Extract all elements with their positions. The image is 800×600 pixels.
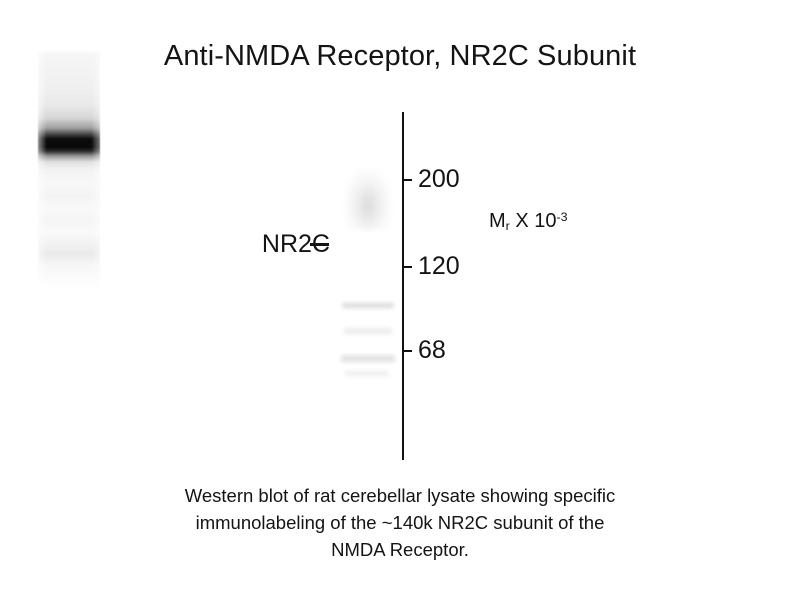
blot-image-panel: [300, 105, 620, 470]
blot-faint-band: [342, 303, 394, 308]
band-pointer-dash-icon: [310, 243, 329, 246]
western-blot-figure: Anti-NMDA Receptor, NR2C Subunit 200 120…: [0, 0, 800, 600]
figure-caption: Western blot of rat cerebellar lysate sh…: [110, 482, 690, 564]
molecular-weight-axis-label: Mr X 10-3: [489, 210, 568, 233]
mr-subscript: r: [506, 219, 510, 233]
mr-prefix: M: [489, 210, 506, 232]
blot-faint-band: [344, 328, 392, 334]
molecular-weight-axis-line: [402, 112, 404, 460]
blot-faint-band: [345, 371, 389, 376]
page-title: Anti-NMDA Receptor, NR2C Subunit: [0, 40, 800, 73]
caption-line: NMDA Receptor.: [110, 536, 690, 563]
mr-superscript: -3: [557, 210, 568, 224]
mw-tick-icon: [402, 350, 412, 352]
caption-line: immunolabeling of the ~140k NR2C subunit…: [110, 509, 690, 536]
caption-line: Western blot of rat cerebellar lysate sh…: [110, 482, 690, 509]
band-label-nr2c: NR2C: [180, 230, 330, 259]
mw-marker-label: 120: [418, 254, 460, 279]
mr-middle: X 10: [510, 210, 557, 232]
blot-smear-upper: [344, 168, 392, 230]
blot-lane: [38, 50, 100, 288]
blot-faint-band: [341, 355, 395, 362]
mw-tick-icon: [402, 266, 412, 268]
mw-tick-icon: [402, 179, 412, 181]
mw-marker-label: 200: [418, 167, 460, 192]
mw-marker-label: 68: [418, 338, 446, 363]
